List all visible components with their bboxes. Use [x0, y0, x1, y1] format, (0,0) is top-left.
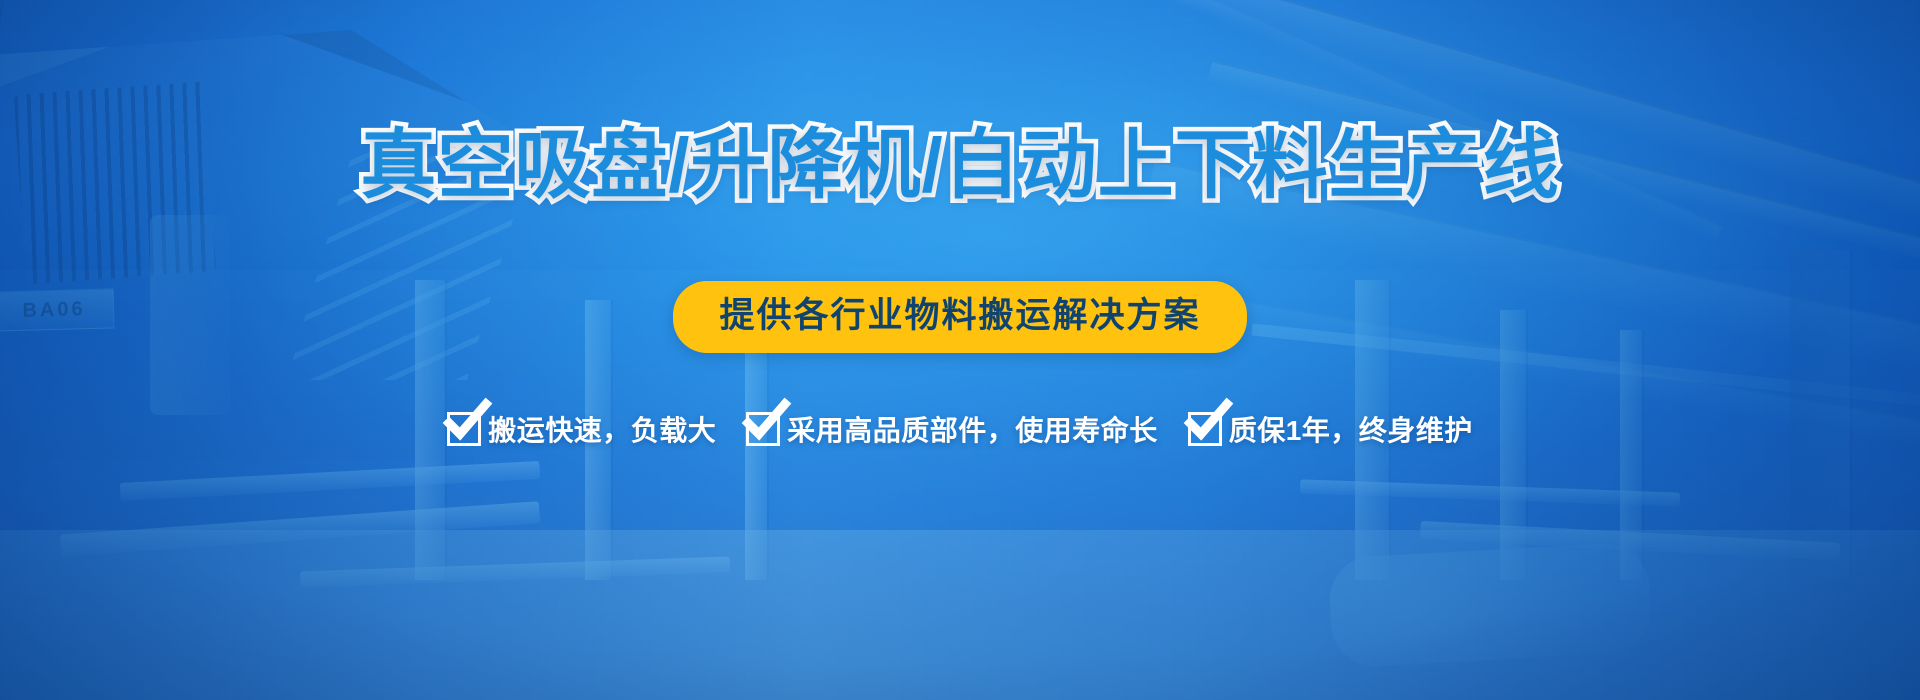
feature-label: 搬运快速，负载大 — [488, 409, 716, 449]
feature-item: 搬运快速，负载大 — [447, 409, 716, 449]
checkbox-checked-icon — [1188, 412, 1222, 446]
feature-label: 采用高品质部件，使用寿命长 — [787, 409, 1158, 449]
banner-headline: 真空吸盘/升降机/自动上下料生产线 — [360, 128, 1559, 204]
promo-banner: BA06 真空吸盘/升降机/自动上下料生产线 提供各行业物料搬运解决方案 — [0, 0, 1920, 700]
feature-item: 采用高品质部件，使用寿命长 — [746, 409, 1158, 449]
feature-item: 质保1年，终身维护 — [1188, 409, 1473, 449]
checkbox-checked-icon — [447, 412, 481, 446]
banner-subtitle-pill: 提供各行业物料搬运解决方案 — [673, 281, 1246, 353]
banner-content: 真空吸盘/升降机/自动上下料生产线 提供各行业物料搬运解决方案 搬运快速，负载大… — [0, 0, 1920, 700]
checkbox-checked-icon — [746, 412, 780, 446]
feature-list: 搬运快速，负载大 采用高品质部件，使用寿命长 质保1年，终身维护 — [447, 409, 1473, 449]
feature-label: 质保1年，终身维护 — [1229, 409, 1473, 449]
